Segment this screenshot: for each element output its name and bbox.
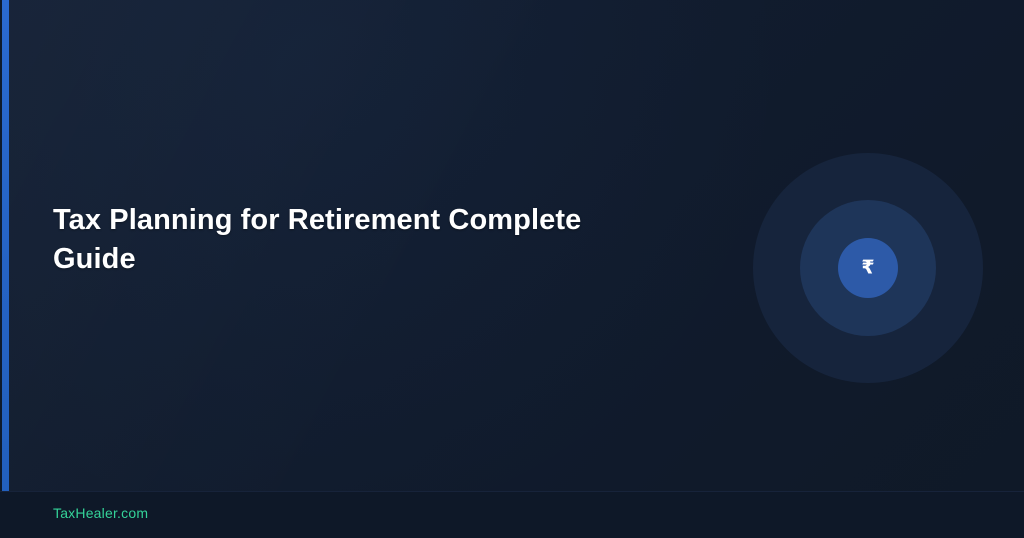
site-name-label: TaxHealer.com (53, 505, 148, 521)
ring-inner: ₹ (838, 238, 898, 298)
decorative-rings: ₹ (753, 153, 983, 383)
social-share-card: Tax Planning for Retirement Complete Gui… (0, 0, 1024, 538)
card-footer: TaxHealer.com (0, 491, 1024, 538)
left-accent-bar (2, 0, 9, 491)
rupee-icon: ₹ (861, 258, 874, 277)
page-title: Tax Planning for Retirement Complete Gui… (53, 201, 653, 279)
